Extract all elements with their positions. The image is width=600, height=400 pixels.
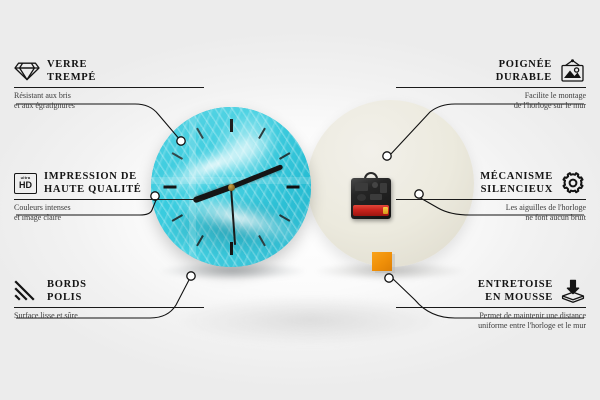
picture-hanger-icon — [559, 59, 586, 83]
feature-header: ENTRETOISE EN MOUSSE — [396, 278, 586, 304]
feature-header: BORDS POLIS — [14, 278, 204, 304]
feature-description: Facilite le montage de l'horloge sur le … — [396, 91, 586, 111]
feature-desc-line2: ne font aucun bruit — [396, 213, 586, 223]
feature-description: Couleurs intenses et image claire — [14, 203, 204, 223]
ultra-hd-badge-icon: ultra HD — [14, 173, 37, 194]
feature-title-line2: HAUTE QUALITÉ — [44, 183, 142, 196]
feature-title-line2: TREMPÉ — [47, 71, 96, 84]
mechanism-detail — [355, 183, 368, 191]
feature-title-line1: MÉCANISME — [480, 170, 553, 183]
feature-header: MÉCANISME SILENCIEUX — [396, 170, 586, 196]
feature-title: BORDS POLIS — [47, 278, 87, 304]
feature-divider — [14, 87, 204, 88]
feature-title-line2: DURABLE — [496, 71, 552, 84]
feature-title: VERRE TREMPÉ — [47, 58, 96, 84]
feature-title: IMPRESSION DE HAUTE QUALITÉ — [44, 170, 142, 196]
feature-title: POIGNÉE DURABLE — [496, 58, 552, 84]
feature-mecanisme-silencieux: MÉCANISME SILENCIEUX Les aiguilles de l'… — [396, 170, 586, 223]
feature-desc-line1: Couleurs intenses — [14, 203, 204, 213]
feature-entretoise-en-mousse: ENTRETOISE EN MOUSSE Permet de maintenir… — [396, 278, 586, 331]
infographic-canvas: VERRE TREMPÉ Résistant aux bris et aux é… — [0, 0, 600, 400]
mechanism-detail — [372, 182, 378, 188]
feature-desc-line1: Les aiguilles de l'horloge — [396, 203, 586, 213]
mechanism-detail — [370, 194, 382, 200]
clock-mechanism — [351, 178, 391, 219]
feature-divider — [396, 199, 586, 200]
feature-title-line2: EN MOUSSE — [478, 291, 553, 304]
feature-title-line2: POLIS — [47, 291, 87, 304]
feature-description: Surface lisse et sûre — [14, 311, 204, 321]
feature-desc-line1: Surface lisse et sûre — [14, 311, 204, 321]
foam-spacer-icon — [560, 279, 586, 303]
feature-title-line1: ENTRETOISE — [478, 278, 553, 291]
feature-divider — [396, 307, 586, 308]
mechanism-detail — [357, 194, 366, 201]
feature-description: Résistant aux bris et aux égratignures — [14, 91, 204, 111]
feature-desc-line1: Résistant aux bris — [14, 91, 204, 101]
feature-title: MÉCANISME SILENCIEUX — [480, 170, 553, 196]
feature-divider — [14, 307, 204, 308]
feature-title-line2: SILENCIEUX — [480, 183, 553, 196]
feature-impression-haute-qualite: ultra HD IMPRESSION DE HAUTE QUALITÉ Cou… — [14, 170, 204, 223]
feature-divider — [396, 87, 586, 88]
foam-spacer — [372, 252, 392, 271]
feature-title-line1: IMPRESSION DE — [44, 170, 142, 183]
feature-header: VERRE TREMPÉ — [14, 58, 204, 84]
feature-bords-polis: BORDS POLIS Surface lisse et sûre — [14, 278, 204, 321]
feature-desc-line1: Permet de maintenir une distance — [396, 311, 586, 321]
feature-divider — [14, 199, 204, 200]
feature-header: POIGNÉE DURABLE — [396, 58, 586, 84]
feature-desc-line1: Facilite le montage — [396, 91, 586, 101]
feature-description: Les aiguilles de l'horloge ne font aucun… — [396, 203, 586, 223]
feature-desc-line2: et aux égratignures — [14, 101, 204, 111]
feature-title-line1: VERRE — [47, 58, 96, 71]
feature-poignee-durable: POIGNÉE DURABLE Facilite le montage de l… — [396, 58, 586, 111]
gear-icon — [560, 171, 586, 195]
battery — [353, 205, 389, 216]
feature-desc-line2: uniforme entre l'horloge et le mur — [396, 321, 586, 331]
feature-description: Permet de maintenir une distance uniform… — [396, 311, 586, 331]
feature-verre-trempe: VERRE TREMPÉ Résistant aux bris et aux é… — [14, 58, 204, 111]
diamond-icon — [14, 60, 40, 82]
badge-large-text: HD — [19, 181, 32, 190]
feature-title: ENTRETOISE EN MOUSSE — [478, 278, 553, 304]
feature-desc-line2: de l'horloge sur le mur — [396, 101, 586, 111]
feature-desc-line2: et image claire — [14, 213, 204, 223]
mechanism-detail — [380, 183, 387, 193]
polished-edge-icon — [14, 280, 40, 302]
feature-header: ultra HD IMPRESSION DE HAUTE QUALITÉ — [14, 170, 204, 196]
feature-title-line1: POIGNÉE — [496, 58, 552, 71]
feature-title-line1: BORDS — [47, 278, 87, 291]
